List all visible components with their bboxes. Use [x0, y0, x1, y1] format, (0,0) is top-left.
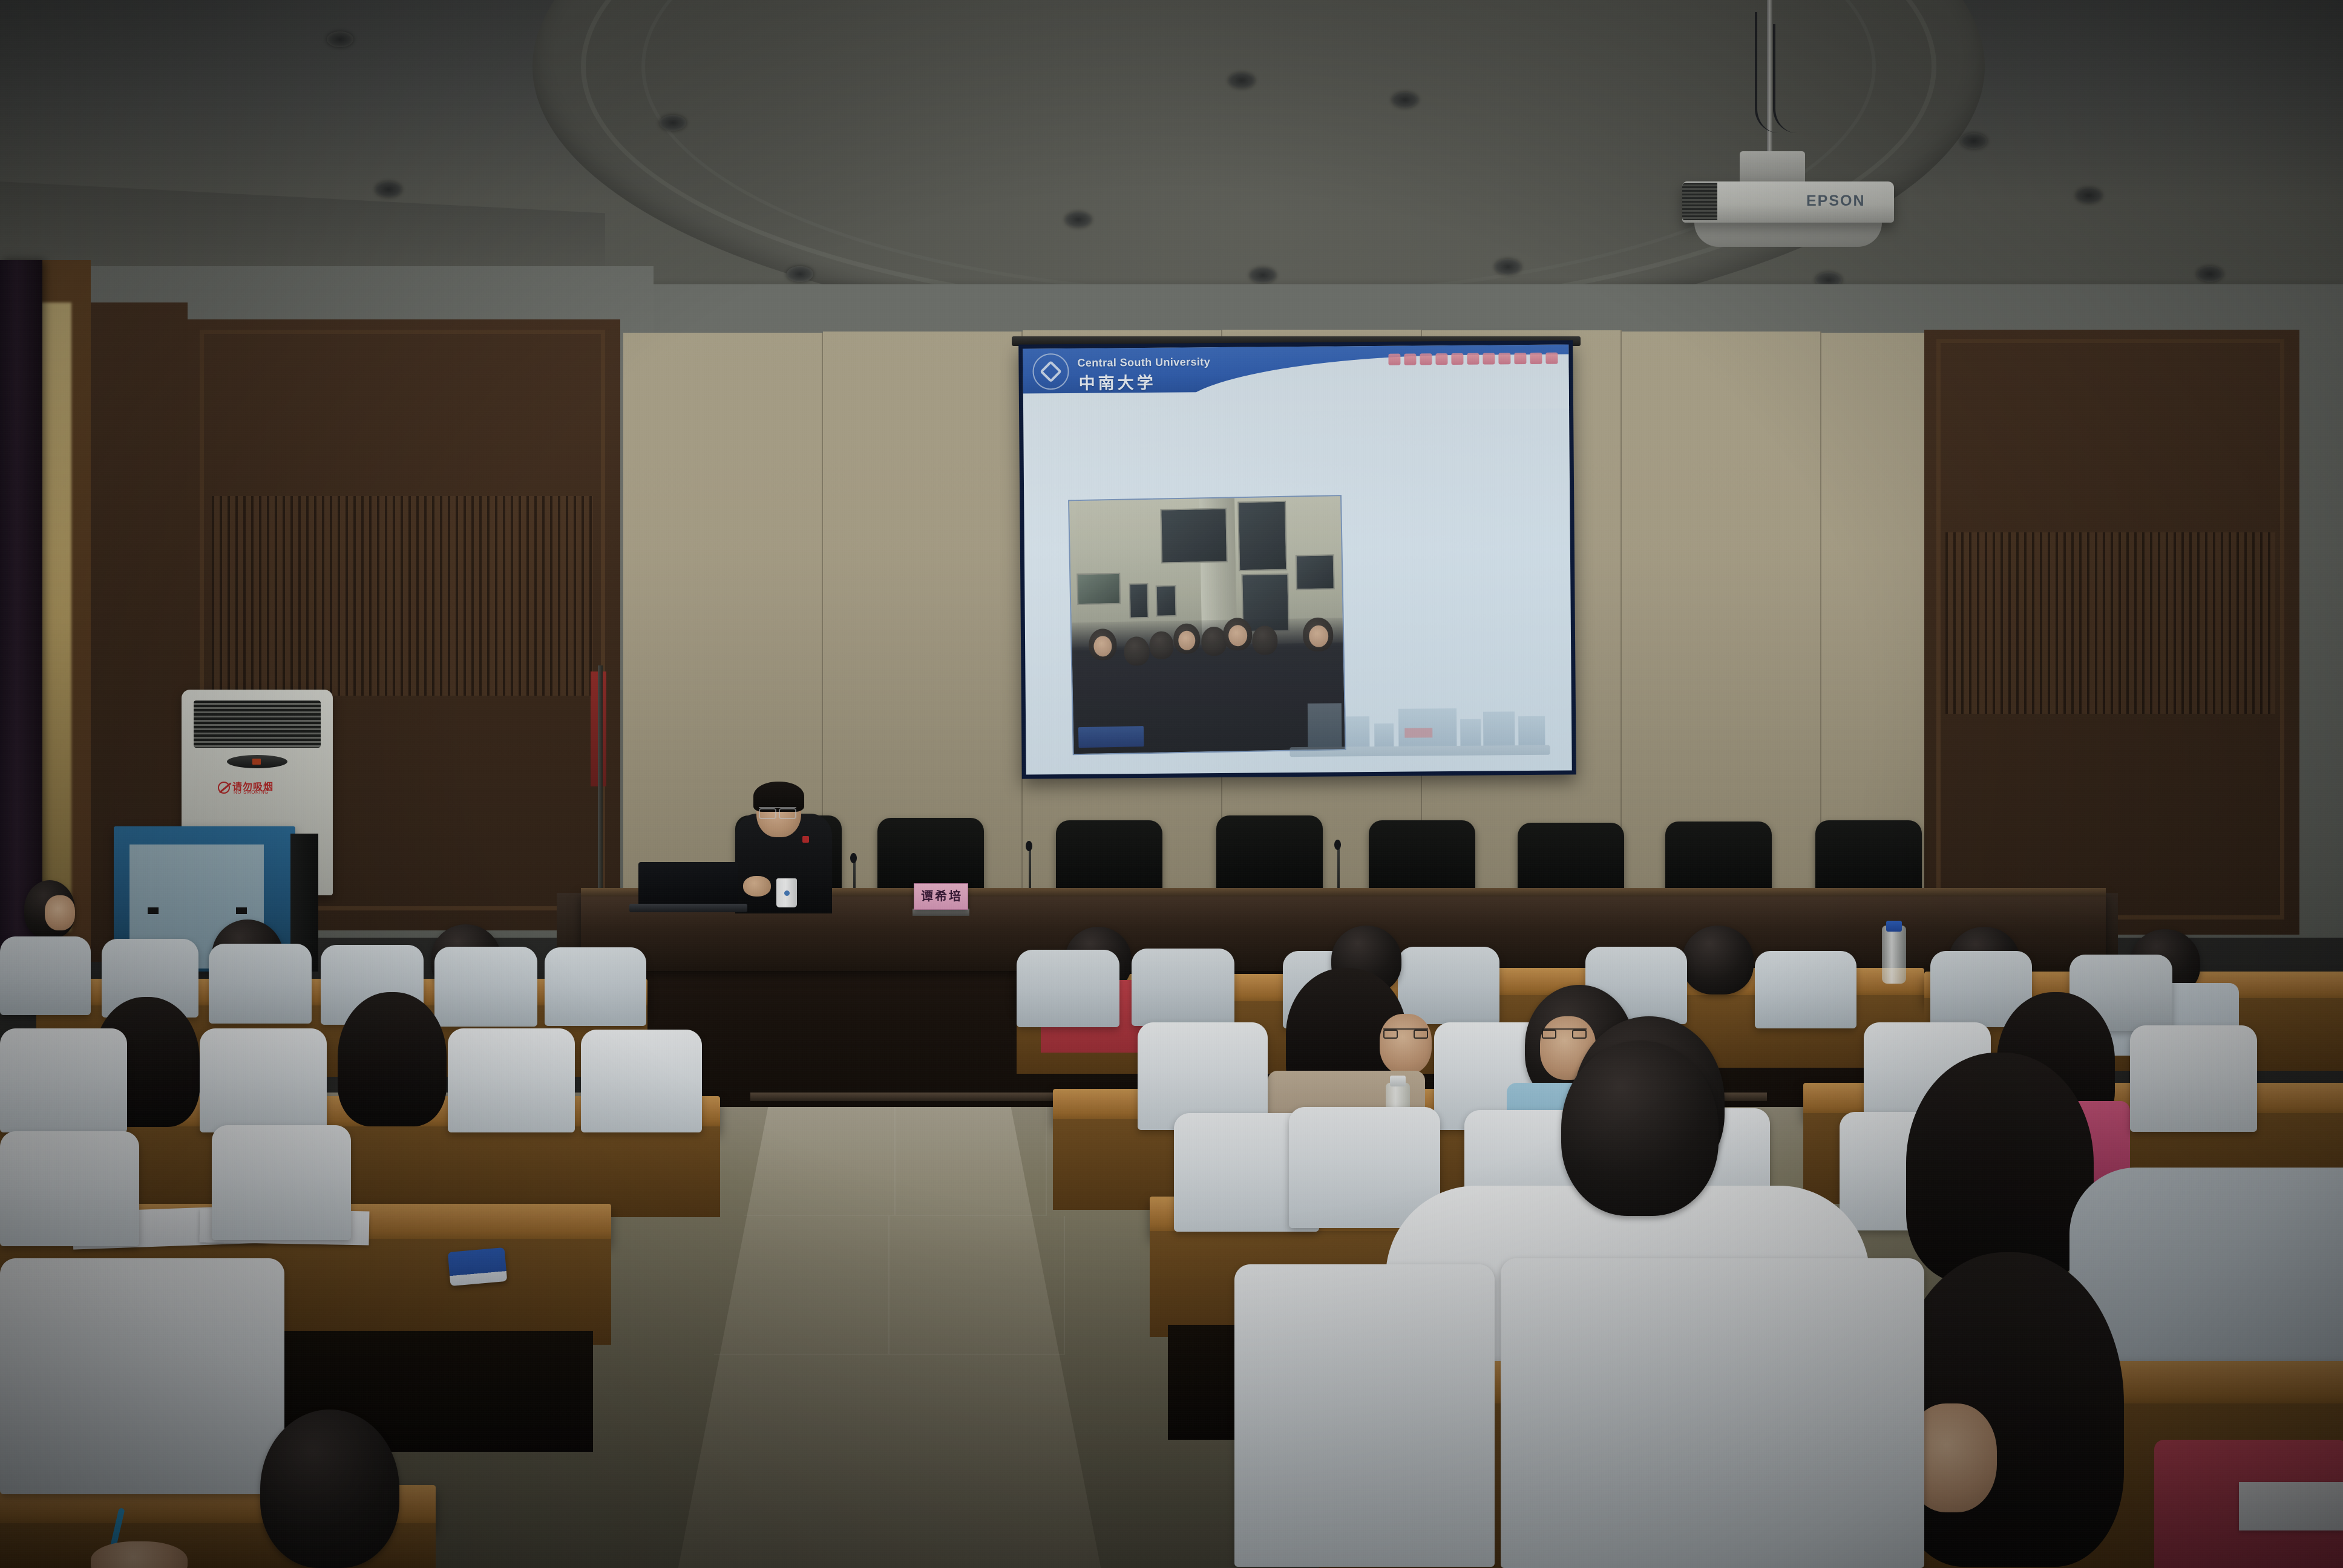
downlight-icon — [1495, 259, 1521, 275]
flag-pole — [598, 665, 603, 907]
audience-chair[interactable] — [581, 1030, 702, 1132]
audience-chair[interactable] — [2130, 1025, 2257, 1132]
slide-photo-watermark — [1078, 726, 1144, 748]
no-smoking-sign: 请勿吸烟 NO SMOKING — [218, 777, 295, 798]
downlight-icon — [2076, 188, 2102, 203]
audience-head — [1682, 926, 1754, 995]
slide-decoration-strip — [1388, 351, 1564, 367]
paper-sheet[interactable] — [2239, 1482, 2343, 1530]
speaker-name-card: 谭 希 培 — [914, 883, 968, 910]
floor-tile — [744, 1107, 896, 1216]
projector-brand-label: EPSON — [1806, 192, 1866, 210]
projector-cable — [1773, 24, 1846, 133]
audience-chair[interactable] — [448, 1028, 575, 1132]
downlight-icon — [1392, 92, 1418, 108]
slide-title-chinese: 中南大学 — [1079, 370, 1156, 394]
audience-chair[interactable] — [1398, 947, 1499, 1024]
wood-slat-texture-left — [212, 496, 593, 696]
audience-chair[interactable] — [0, 1131, 139, 1246]
audience-chair[interactable] — [434, 947, 537, 1027]
audience-chair[interactable] — [545, 947, 646, 1026]
downlight-icon — [1961, 133, 1987, 149]
speaker-hand — [743, 876, 771, 897]
university-crest-icon — [1032, 353, 1069, 390]
no-smoking-label-en: NO SMOKING — [234, 789, 269, 795]
projection-screen[interactable]: Central South University 中南大学 — [1018, 340, 1576, 779]
floor-tile — [896, 1107, 1047, 1216]
downlight-icon — [1228, 73, 1255, 88]
bottle-cap-icon — [1886, 921, 1902, 932]
downlight-icon — [1250, 267, 1276, 283]
audience-chair[interactable] — [212, 1125, 351, 1240]
projector-vent-icon — [1682, 183, 1717, 220]
audience-head-foreground — [1561, 1040, 1719, 1216]
slide-title-english: Central South University — [1077, 356, 1210, 370]
laptop-base[interactable] — [629, 904, 747, 912]
downlight-icon — [660, 115, 686, 131]
audience-chair-foreground[interactable] — [1234, 1264, 1495, 1567]
audience-chair[interactable] — [209, 944, 312, 1024]
downlight-icon — [2197, 266, 2223, 282]
audience-hair-foreground — [1906, 1053, 2094, 1282]
cabinet-latch-icon[interactable] — [148, 907, 159, 914]
cabinet-latch-icon[interactable] — [236, 907, 247, 914]
downlight-icon — [787, 266, 813, 282]
audience-chair[interactable] — [1132, 949, 1234, 1026]
audience-glasses-icon — [1383, 1028, 1428, 1034]
audience-chair[interactable] — [1755, 951, 1856, 1028]
presentation-slide: Central South University 中南大学 — [1023, 344, 1572, 774]
no-smoking-icon — [218, 782, 230, 794]
downlight-icon — [375, 181, 402, 197]
smartphone[interactable] — [448, 1247, 508, 1286]
air-conditioner-display — [227, 755, 287, 768]
name-char-1: 谭 — [921, 890, 933, 903]
water-bottle[interactable] — [1882, 926, 1906, 984]
speaker-glasses-icon — [759, 807, 796, 815]
floor-tile — [890, 1216, 1065, 1355]
audience-chair-foreground[interactable] — [1501, 1258, 1924, 1568]
wood-slat-texture-right — [1945, 532, 2275, 714]
downlight-icon — [1065, 212, 1092, 227]
microphone-head-icon — [850, 853, 857, 863]
air-conditioner-grille-icon — [194, 701, 321, 748]
audience-chair-foreground[interactable] — [0, 1258, 284, 1494]
cup-logo-icon — [784, 890, 790, 896]
audience-face — [1380, 1014, 1432, 1074]
window-curtain[interactable] — [0, 260, 42, 980]
lecture-hall-scene: EPSON Central South University 中南大学 — [0, 0, 2343, 1568]
audience-head-foreground — [260, 1410, 399, 1568]
name-char-2: 希 — [935, 890, 947, 903]
name-char-3: 培 — [949, 890, 961, 903]
microphone-head-icon — [1334, 840, 1341, 850]
audience-chair[interactable] — [0, 1028, 127, 1132]
audience-face — [45, 895, 75, 930]
audience-chair[interactable] — [200, 1028, 327, 1132]
audience-chair[interactable] — [1017, 950, 1119, 1027]
downlight-icon — [327, 31, 353, 47]
audience-chair[interactable] — [0, 936, 91, 1015]
microphone-head-icon — [1026, 841, 1032, 851]
bottle-cap-icon — [1390, 1076, 1406, 1086]
laptop[interactable] — [638, 862, 738, 907]
slide-campus-skyline — [1289, 688, 1550, 763]
floor-tile — [714, 1216, 890, 1355]
audience-hair — [338, 992, 447, 1126]
audience-glasses-icon — [1542, 1028, 1587, 1034]
speaker-lapel-badge — [802, 836, 809, 843]
